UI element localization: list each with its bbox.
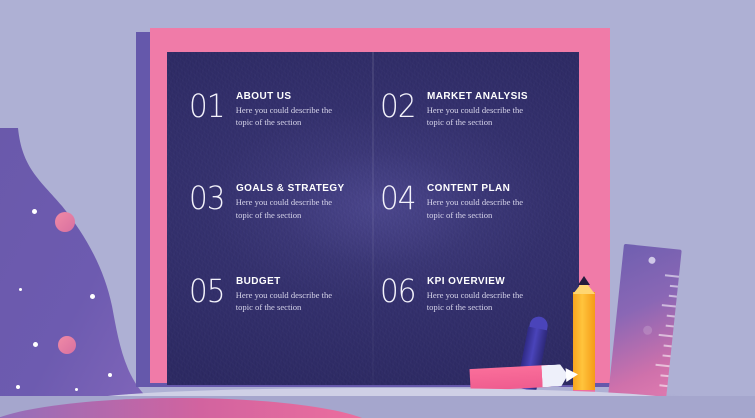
- agenda-item-description: Here you could describe the topic of the…: [236, 289, 351, 313]
- agenda-item-number: 05: [189, 275, 225, 307]
- agenda-item-number: 03: [189, 182, 225, 214]
- agenda-item-title: GOALS & STRATEGY: [236, 182, 345, 194]
- agenda-item-05[interactable]: 05 BUDGET Here you could describe the to…: [189, 273, 372, 365]
- ruler-center-dot: [643, 325, 653, 335]
- agenda-item-02[interactable]: 02 MARKET ANALYSIS Here you could descri…: [380, 88, 563, 180]
- agenda-item-number: 01: [189, 90, 225, 122]
- ruler-tick: [664, 345, 672, 348]
- agenda-item-title: BUDGET: [236, 275, 345, 287]
- ruler-tick: [666, 325, 674, 328]
- ruler-tick: [662, 304, 676, 307]
- ruler-tick: [669, 295, 677, 298]
- agenda-item-title: MARKET ANALYSIS: [427, 90, 536, 102]
- ruler-tick: [667, 315, 675, 318]
- agenda-item-title: ABOUT US: [236, 90, 345, 102]
- agenda-item-text: ABOUT US Here you could describe the top…: [236, 88, 351, 128]
- agenda-item-number: 06: [380, 275, 416, 307]
- decor-dot-1: [32, 209, 37, 214]
- decor-ball-2: [58, 336, 76, 354]
- ruler-hole: [648, 256, 656, 264]
- agenda-slide: 01 ABOUT US Here you could describe the …: [0, 0, 755, 418]
- decor-dot-3: [90, 294, 95, 299]
- ruler-tick: [670, 285, 678, 288]
- ruler-tick: [665, 274, 679, 277]
- agenda-item-text: CONTENT PLAN Here you could describe the…: [427, 180, 542, 220]
- agenda-item-description: Here you could describe the topic of the…: [236, 196, 351, 220]
- agenda-item-text: MARKET ANALYSIS Here you could describe …: [427, 88, 542, 128]
- ruler-tick: [655, 364, 669, 367]
- decor-ball-1: [55, 212, 75, 232]
- pencil-tip: [578, 276, 590, 285]
- ruler-tick: [662, 354, 670, 357]
- agenda-item-01[interactable]: 01 ABOUT US Here you could describe the …: [189, 88, 372, 180]
- agenda-item-number: 02: [380, 90, 416, 122]
- agenda-item-03[interactable]: 03 GOALS & STRATEGY Here you could descr…: [189, 180, 372, 272]
- ruler-tick: [659, 334, 673, 337]
- decor-dot-2: [19, 288, 22, 291]
- agenda-item-text: GOALS & STRATEGY Here you could describe…: [236, 180, 351, 220]
- agenda-item-description: Here you could describe the topic of the…: [427, 196, 542, 220]
- agenda-item-number: 04: [380, 182, 416, 214]
- agenda-item-text: BUDGET Here you could describe the topic…: [236, 273, 351, 313]
- agenda-item-description: Here you could describe the topic of the…: [236, 104, 351, 128]
- agenda-item-title: CONTENT PLAN: [427, 182, 536, 194]
- agenda-item-description: Here you could describe the topic of the…: [427, 104, 542, 128]
- desk: [0, 372, 755, 418]
- decor-dot-4: [33, 342, 38, 347]
